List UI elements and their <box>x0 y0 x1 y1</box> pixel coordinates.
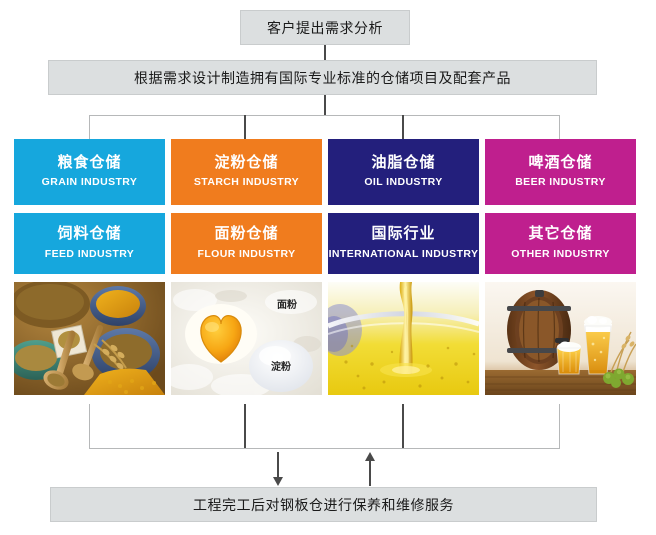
connector-branch-beer <box>559 115 560 139</box>
connector-merge-rail <box>89 448 560 449</box>
industry-card-title-cn: 啤酒仓储 <box>528 155 592 172</box>
industry-card-title-cn: 面粉仓储 <box>214 226 278 243</box>
beer-barrel-photo <box>485 282 636 395</box>
industry-card-feed[interactable]: 饲料仓储 FEED INDUSTRY <box>14 213 165 274</box>
industry-card-title-cn: 粮食仓储 <box>57 155 121 172</box>
industry-card-beer[interactable]: 啤酒仓储 BEER INDUSTRY <box>485 139 636 205</box>
industry-card-title-en: INTERNATIONAL INDUSTRY <box>329 249 479 261</box>
arrow-down-to-maintenance <box>272 452 284 486</box>
industry-card-title-en: OTHER INDUSTRY <box>511 249 610 261</box>
industry-card-title-en: FLOUR INDUSTRY <box>198 249 296 261</box>
industry-card-other[interactable]: 其它仓储 OTHER INDUSTRY <box>485 213 636 274</box>
industry-card-starch[interactable]: 淀粉仓储 STARCH INDUSTRY <box>171 139 322 205</box>
industry-card-international[interactable]: 国际行业 INTERNATIONAL INDUSTRY <box>328 213 479 274</box>
process-step-label: 工程完工后对钢板仓进行保养和维修服务 <box>193 495 454 515</box>
arrow-up-from-maintenance <box>364 452 376 486</box>
industry-card-title-cn: 其它仓储 <box>528 226 592 243</box>
connector-merge-beer <box>559 404 560 449</box>
connector-branch-oil <box>402 115 404 139</box>
industry-card-title-en: GRAIN INDUSTRY <box>42 177 138 189</box>
connector-merge-starch <box>244 404 246 449</box>
process-step-label: 根据需求设计制造拥有国际专业标准的仓储项目及配套产品 <box>134 68 511 88</box>
industry-card-oil[interactable]: 油脂仓储 OIL INDUSTRY <box>328 139 479 205</box>
industry-card-title-cn: 国际行业 <box>371 226 435 243</box>
connector-merge-oil <box>402 404 404 449</box>
flour-egg-photo: 面粉 淀粉 <box>171 282 322 395</box>
flow-diagram: 客户提出需求分析 根据需求设计制造拥有国际专业标准的仓储项目及配套产品 粮食仓储… <box>0 0 656 535</box>
connector-branch-grain <box>89 115 90 139</box>
industry-card-grain[interactable]: 粮食仓储 GRAIN INDUSTRY <box>14 139 165 205</box>
industry-card-title-en: BEER INDUSTRY <box>515 177 606 189</box>
industry-card-title-cn: 饲料仓储 <box>57 226 121 243</box>
process-step-maintenance-service: 工程完工后对钢板仓进行保养和维修服务 <box>50 487 597 522</box>
photo-label-flour: 面粉 <box>277 298 297 311</box>
connector-top-to-design <box>324 45 326 60</box>
industry-card-title-en: OIL INDUSTRY <box>364 177 442 189</box>
industry-card-flour[interactable]: 面粉仓储 FLOUR INDUSTRY <box>171 213 322 274</box>
grains-bowls-photo <box>14 282 165 395</box>
industry-card-title-en: FEED INDUSTRY <box>45 249 134 261</box>
process-step-design-manufacture: 根据需求设计制造拥有国际专业标准的仓储项目及配套产品 <box>48 60 597 95</box>
industry-card-title-en: STARCH INDUSTRY <box>194 177 299 189</box>
industry-card-title-cn: 油脂仓储 <box>371 155 435 172</box>
process-step-requirement-analysis: 客户提出需求分析 <box>240 10 410 45</box>
photo-label-starch: 淀粉 <box>271 360 291 373</box>
connector-branch-rail <box>89 115 560 116</box>
connector-branch-starch <box>244 115 246 139</box>
connector-design-stem <box>324 95 326 115</box>
process-step-label: 客户提出需求分析 <box>267 18 383 38</box>
industry-card-title-cn: 淀粉仓储 <box>214 155 278 172</box>
cooking-oil-photo <box>328 282 479 395</box>
connector-merge-grain <box>89 404 90 449</box>
